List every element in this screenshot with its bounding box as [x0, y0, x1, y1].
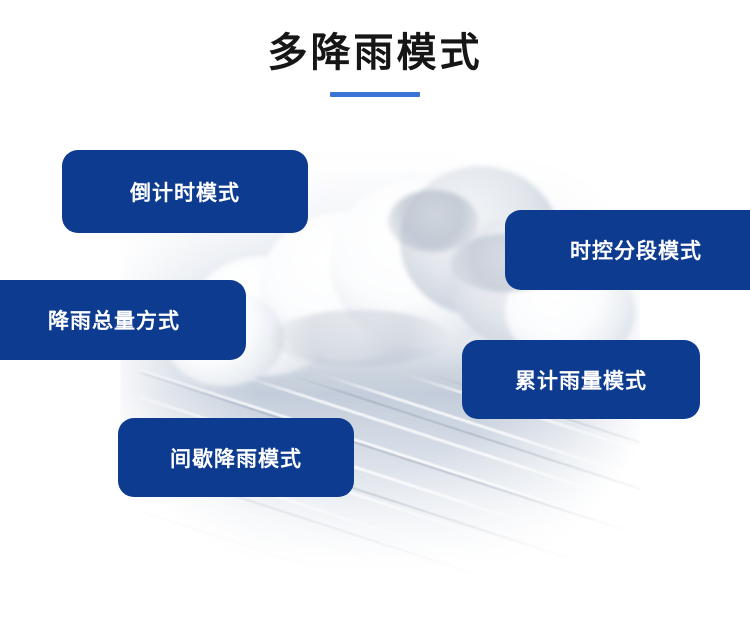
mode-badge-accumulated[interactable]: 累计雨量模式 — [462, 340, 700, 419]
rainfall-modes-poster: 多降雨模式 倒计时模式 时控分段模式 降雨总量方式 累计雨量模式 间歇降雨模式 — [0, 0, 750, 634]
mode-badge-total[interactable]: 降雨总量方式 — [0, 280, 246, 360]
page-title: 多降雨模式 — [0, 28, 750, 78]
mode-badge-countdown[interactable]: 倒计时模式 — [62, 150, 308, 233]
cloud-shadow-puff — [270, 310, 450, 366]
page-title-block: 多降雨模式 — [0, 28, 750, 97]
mode-badge-timed[interactable]: 时控分段模式 — [505, 210, 750, 290]
mode-badge-intermittent[interactable]: 间歇降雨模式 — [118, 418, 354, 497]
title-underline-rule — [330, 92, 420, 97]
